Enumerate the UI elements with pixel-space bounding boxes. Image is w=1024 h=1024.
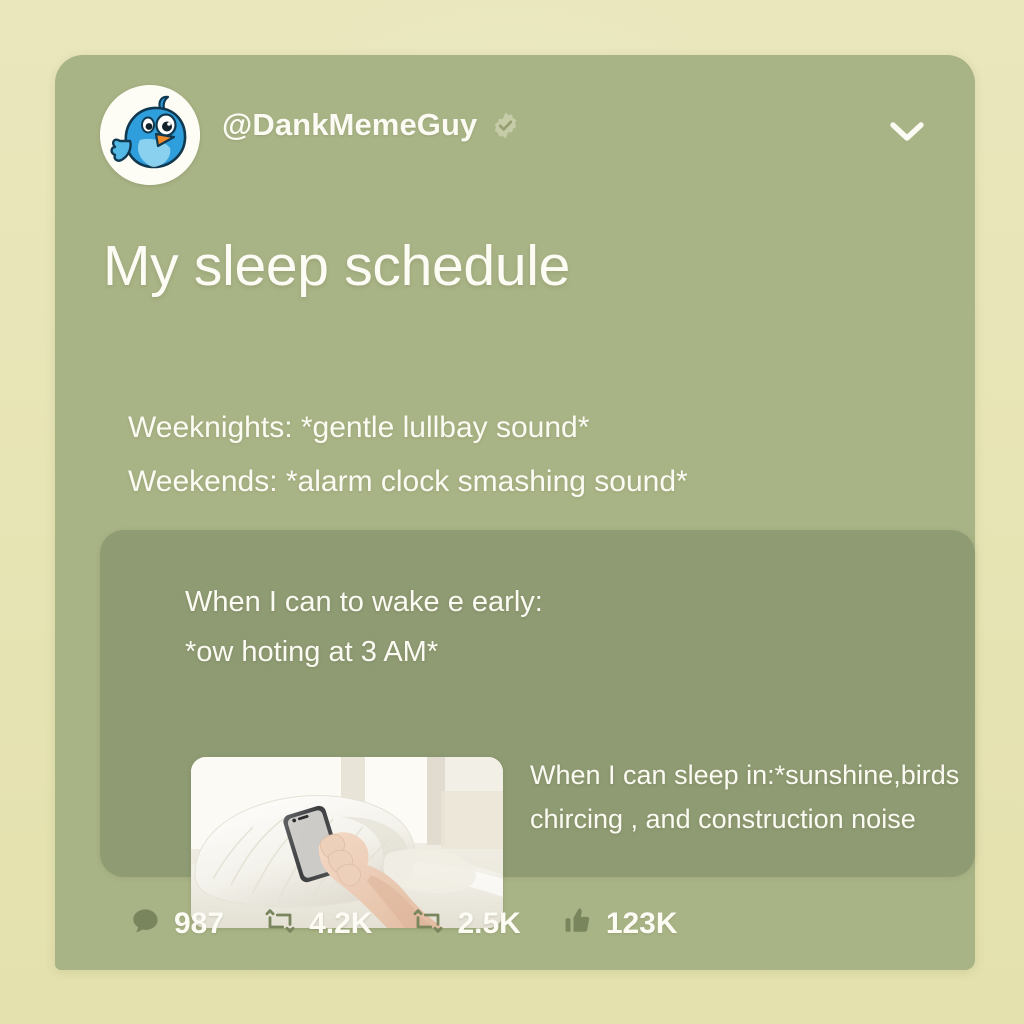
post-header: @DankMemeGuy: [100, 85, 935, 185]
like-count: 123K: [606, 907, 678, 941]
retweet-icon: [264, 905, 296, 942]
post-body: Weeknights: *gentle lullbay sound* Weeke…: [128, 407, 928, 514]
like-stat[interactable]: 123K: [561, 905, 678, 942]
pillow-phone-photo[interactable]: [191, 757, 503, 928]
post-body-line: Weeknights: *gentle lullbay sound*: [128, 407, 928, 450]
quote-count: 2.5K: [457, 907, 520, 941]
handle-row: @DankMemeGuy: [222, 107, 520, 143]
verified-badge-icon: [491, 111, 520, 140]
quoted-line: When I can to wake e early:: [185, 582, 925, 623]
comment-icon: [130, 906, 161, 942]
retweet-stat[interactable]: 4.2K: [264, 905, 372, 942]
post-body-line: Weekends: *alarm clock smashing sound*: [128, 461, 928, 504]
quoted-card[interactable]: When I can to wake e early: *ow hoting a…: [100, 530, 975, 877]
retweet-icon: [412, 905, 444, 942]
avatar[interactable]: [100, 85, 200, 185]
engagement-bar: 987 4.2K: [130, 905, 678, 942]
chevron-down-icon[interactable]: [887, 115, 927, 149]
quoted-line: *ow hoting at 3 AM*: [185, 632, 925, 673]
quoted-media-row: When I can sleep in:*sunshine,birds chir…: [100, 757, 975, 928]
account-handle[interactable]: @DankMemeGuy: [222, 107, 477, 143]
post-title: My sleep schedule: [103, 233, 570, 299]
thumbs-up-icon: [561, 905, 593, 942]
reply-stat[interactable]: 987: [130, 906, 224, 942]
blue-bird-avatar-icon: [100, 85, 200, 185]
quoted-caption: When I can sleep in:*sunshine,birds chir…: [530, 754, 1024, 841]
hand-holding-phone-on-pillow-image: [191, 757, 503, 928]
quote-stat[interactable]: 2.5K: [412, 905, 520, 942]
reply-count: 987: [174, 907, 224, 941]
post-card: @DankMemeGuy My sleep schedule Weeknight…: [55, 55, 975, 970]
quoted-text: When I can to wake e early: *ow hoting a…: [185, 582, 925, 682]
retweet-count: 4.2K: [309, 907, 372, 941]
